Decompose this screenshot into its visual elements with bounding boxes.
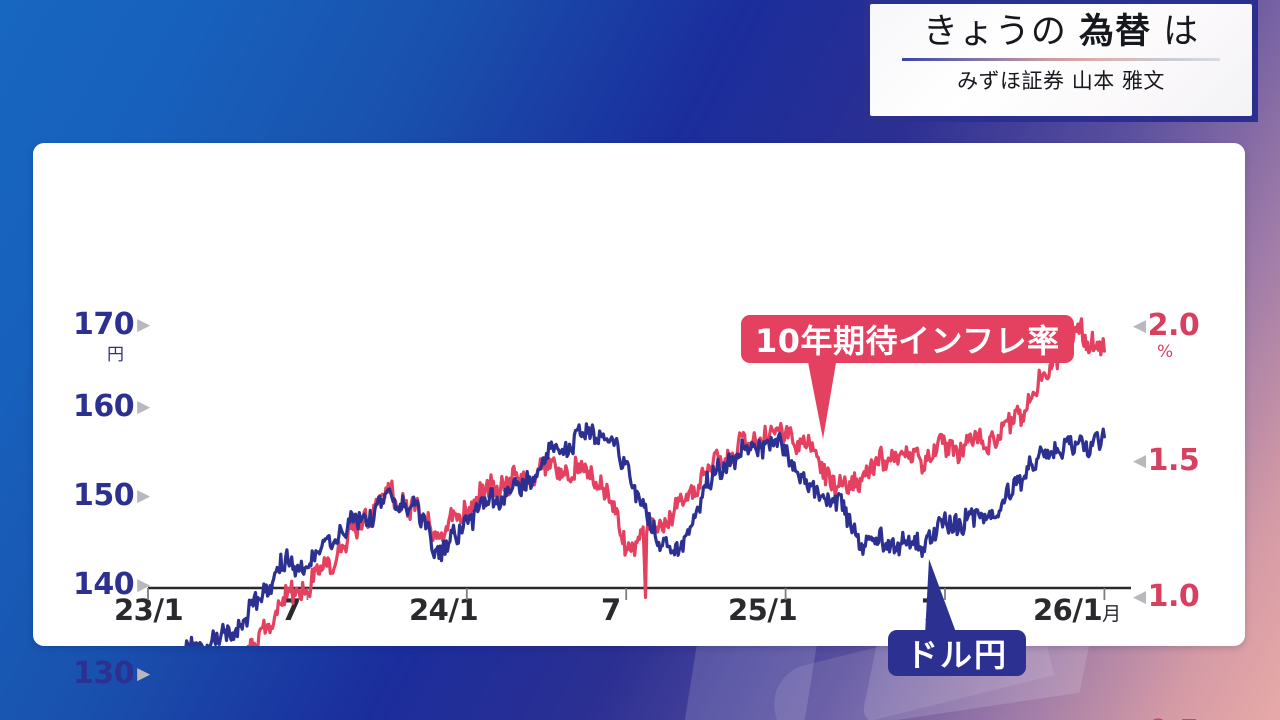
title-prefix: きょうの [923,12,1079,52]
program-title-panel: きょうの 為替 は みずほ証券 山本 雅文 [864,0,1258,122]
title-suffix: は [1151,12,1199,52]
title-emphasis: 為替 [1079,12,1151,52]
callout-inflation[interactable]: 10年期待インフレ率 [741,315,1074,363]
title-subtitle: みずほ証券 山本 雅文 [957,65,1165,95]
chart-card: 170 ▶ 円 160 ▶ 150 ▶ 140 ▶ 130 ▶ ◀ 2.0 % … [33,143,1245,646]
chart-svg [33,143,1245,646]
program-title-inner: きょうの 為替 は みずほ証券 山本 雅文 [870,4,1252,116]
screen-root: きょうの 為替 は みずほ証券 山本 雅文 170 ▶ 円 160 ▶ 150 … [0,0,1280,720]
title-divider [902,58,1220,61]
right-axis-tick-label: 0.5 [1148,714,1200,720]
left-axis-tick-130: 130 ▶ [73,656,150,691]
triangle-marker-icon: ▶ [137,664,150,684]
page-title: きょうの 為替 は [923,12,1199,53]
right-axis-tick-0-5: ◀ 0.5 [1133,714,1199,720]
callout-usdjpy[interactable]: ドル円 [888,630,1026,676]
left-axis-tick-label: 130 [73,656,134,691]
plot-area [33,143,1245,646]
